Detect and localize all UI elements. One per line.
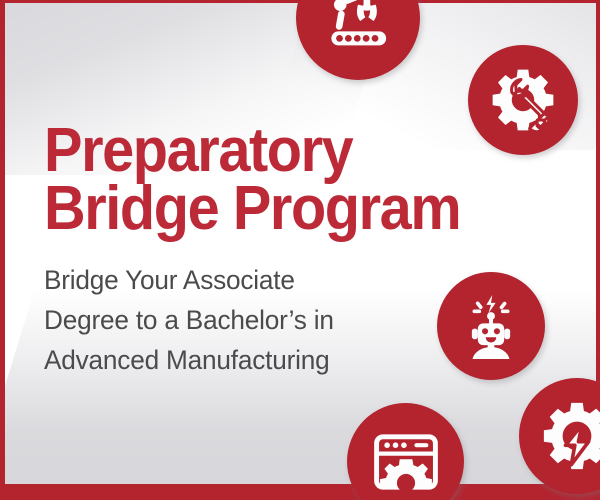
preparatory-bridge-program-banner: Preparatory Bridge Program Bridge Your A… <box>0 0 600 500</box>
border-bottom <box>0 484 600 500</box>
subtitle-line-1: Bridge Your Associate <box>44 260 500 300</box>
subtitle-line-3: Advanced Manufacturing <box>44 340 500 380</box>
robotic-arm-conveyor-icon-badge <box>296 0 420 80</box>
subtitle-line-2: Degree to a Bachelor’s in <box>44 300 500 340</box>
subtitle: Bridge Your Associate Degree to a Bachel… <box>44 260 514 380</box>
browser-window-gear-icon <box>371 427 441 497</box>
headline-line-2: Bridge Program <box>44 180 481 238</box>
headline-line-1: Preparatory <box>44 122 481 180</box>
text-block: Preparatory Bridge Program Bridge Your A… <box>44 122 514 380</box>
gear-lightning-icon <box>541 400 600 472</box>
gear-lightning-icon-badge <box>519 378 600 494</box>
border-left <box>0 0 5 500</box>
browser-window-gear-icon-badge <box>347 403 464 500</box>
robotic-arm-conveyor-icon <box>321 0 395 55</box>
